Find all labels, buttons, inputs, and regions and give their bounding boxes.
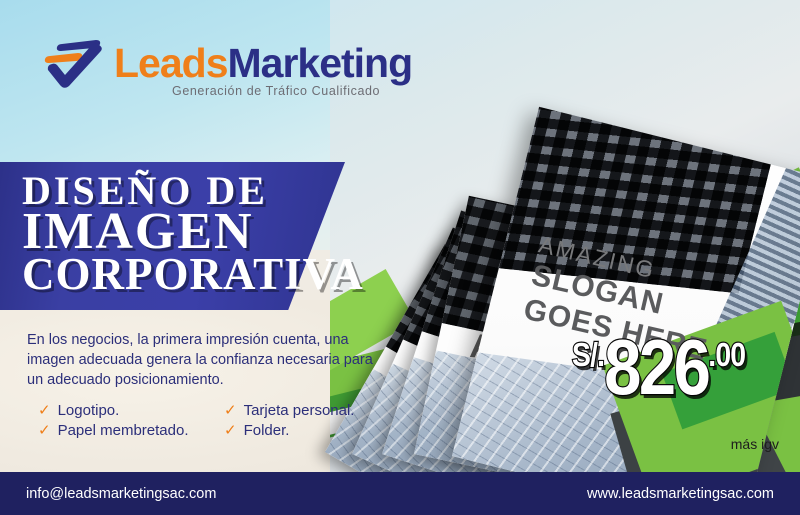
logo-wordmark: LeadsMarketing — [114, 40, 412, 87]
check-icon: ✓ — [224, 423, 237, 438]
page-title: DISEÑO DE IMAGEN CORPORATIVA — [22, 172, 342, 296]
check-icon: ✓ — [38, 423, 51, 438]
price-integer: 826 — [604, 332, 708, 404]
price-tax-note: más igv — [731, 436, 779, 452]
brand-tagline: Generación de Tráfico Cualificado — [172, 84, 380, 98]
marketing-banner: A A A A AMAZING SLOGAN GOES HERE — [0, 0, 800, 515]
price-currency: S/. — [572, 336, 604, 374]
price-block: S/. 826 .00 más igv — [572, 332, 787, 442]
contact-footer: info@leadsmarketingsac.com www.leadsmark… — [0, 472, 800, 515]
list-item: ✓ Folder. — [224, 422, 374, 439]
feature-label: Tarjeta personal. — [244, 402, 355, 419]
contact-website[interactable]: www.leadsmarketingsac.com — [587, 486, 774, 502]
list-item: ✓ Logotipo. — [38, 402, 224, 419]
check-icon: ✓ — [38, 403, 51, 418]
description-paragraph: En los negocios, la primera impresión cu… — [27, 330, 387, 390]
brand-logo[interactable]: LeadsMarketing Generación de Tráfico Cua… — [44, 36, 404, 98]
logo-word-leads: Leads — [114, 40, 228, 86]
list-item: ✓ Tarjeta personal. — [224, 402, 374, 419]
list-item: ✓ Papel membretado. — [38, 422, 224, 439]
contact-email[interactable]: info@leadsmarketingsac.com — [26, 486, 216, 502]
check-icon: ✓ — [224, 403, 237, 418]
headline-line-3: CORPORATIVA — [22, 253, 342, 296]
price-value: S/. 826 .00 — [572, 332, 745, 404]
feature-label: Folder. — [244, 422, 290, 439]
headline-line-1: DISEÑO DE — [22, 172, 342, 210]
feature-list: ✓ Logotipo. ✓ Tarjeta personal. ✓ Papel … — [38, 402, 368, 439]
price-decimal: .00 — [708, 336, 745, 374]
feature-label: Papel membretado. — [58, 422, 189, 439]
logo-word-marketing: Marketing — [228, 40, 413, 86]
feature-label: Logotipo. — [58, 402, 120, 419]
checkmark-swoosh-icon — [44, 38, 106, 90]
